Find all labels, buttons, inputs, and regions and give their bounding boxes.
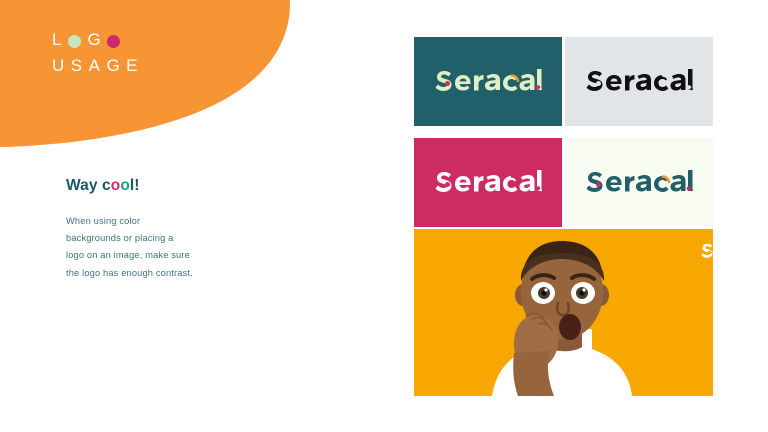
title-letter-g: G [87, 30, 107, 50]
title-line-logo: L G [52, 30, 144, 50]
trademark-symbol: ™ [689, 188, 694, 193]
copy-block: Way cool! When using color backgrounds o… [66, 176, 266, 282]
logo-tile-grid: ™ ™ [414, 37, 713, 239]
seracal-logo-icon: ™ [583, 67, 695, 97]
boy-photo-illustration [414, 229, 713, 396]
trademark-symbol: ™ [538, 87, 543, 92]
seracal-logo-icon: ™ [583, 168, 695, 198]
orange-blob-decoration [0, 0, 320, 160]
logo-dot-magenta-icon [107, 35, 120, 48]
logo-tile-cream[interactable]: ™ [565, 138, 713, 227]
tile-row-2: ™ ™ [414, 138, 713, 227]
seracal-logo-icon: ™ [432, 168, 544, 198]
body-line-4: the logo has enough contrast. [66, 265, 266, 282]
title-line-usage: USAGE [52, 56, 144, 76]
page-title: L G USAGE [52, 30, 144, 76]
body-line-2: backgrounds or placing a [66, 230, 266, 247]
logo-tile-photo[interactable]: ™ [414, 229, 713, 396]
headline-o-pink: o [111, 177, 121, 194]
tile-row-1: ™ ™ [414, 37, 713, 126]
headline-post: l! [130, 177, 140, 194]
logo-dot-green-icon [68, 35, 81, 48]
trademark-symbol: ™ [689, 87, 694, 92]
trademark-symbol: ™ [538, 188, 543, 193]
body-line-3: logo on an image, make sure [66, 247, 266, 264]
logo-tile-teal[interactable]: ™ [414, 37, 562, 126]
headline-o-teal: o [120, 177, 130, 194]
headline: Way cool! [66, 176, 266, 195]
logo-tile-pink[interactable]: ™ [414, 138, 562, 227]
body-paragraph: When using color backgrounds or placing … [66, 213, 266, 282]
headline-pre: Way c [66, 177, 111, 194]
body-line-1: When using color [66, 213, 266, 230]
seracal-logo-icon: ™ [432, 67, 544, 97]
slide-canvas: L G USAGE Way cool! When using color bac… [0, 0, 768, 432]
logo-tile-grey[interactable]: ™ [565, 37, 713, 126]
title-letter-l: L [52, 30, 68, 50]
seracal-logo-icon: ™ [699, 241, 713, 262]
